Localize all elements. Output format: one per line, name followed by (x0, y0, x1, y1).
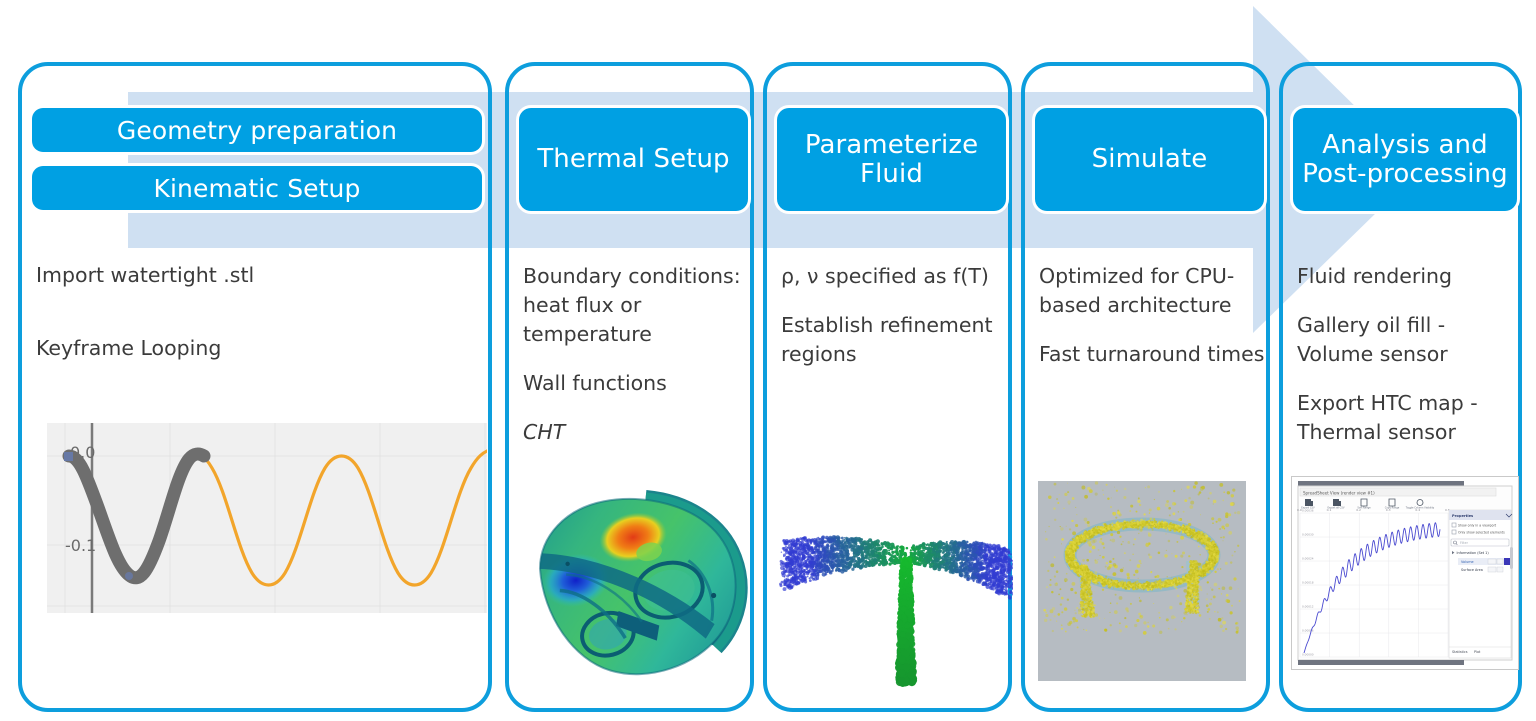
body-paragraph: Gallery oil fill - Volume sensor (1297, 311, 1519, 369)
figure-keyframe-looping-chart: 0.0 -0.1 (47, 423, 487, 613)
checkbox-label: Show only in a viewport (1458, 524, 1497, 528)
stage-chip-label: Thermal Setup (537, 145, 729, 173)
keyframe-looping-chart: 0.0 -0.1 (47, 423, 487, 613)
tab-statistics[interactable]: Statistics (1452, 650, 1468, 654)
tree-item-label[interactable]: Volume (1461, 560, 1474, 564)
ytick-label: 0.00036 (1302, 509, 1314, 513)
stage-chip-label: Parameterize Fluid (777, 131, 1006, 187)
toolbar-button-label: Toggle Column Visibility (1406, 507, 1435, 510)
stage-chip-analysis-and-post-processing[interactable]: Analysis and Post-processing (1293, 108, 1517, 211)
stage-panel-geometry-preparation[interactable]: Geometry preparation Kinematic Setup Imp… (18, 62, 492, 712)
body-paragraph: Keyframe Looping (36, 334, 476, 363)
stage-chip-parameterize-fluid[interactable]: Parameterize Fluid (777, 108, 1006, 211)
xtick-label: 0.4 (1415, 508, 1420, 512)
stage-chip-label: Simulate (1092, 145, 1208, 173)
stage-chip-kinematic-setup[interactable]: Kinematic Setup (32, 166, 482, 210)
stage-chip-label: Analysis and Post-processing (1293, 131, 1517, 187)
app-statusbar (1298, 660, 1464, 665)
figure-particle-spray-render (773, 461, 1013, 691)
app-window-title: SpreadSheet View (render view #1) (1303, 491, 1375, 496)
stage-chip-geometry-preparation[interactable]: Geometry preparation (32, 108, 482, 152)
stage-body-analysis-and-post-processing: Fluid rendering Gallery oil fill - Volum… (1297, 262, 1519, 468)
value-cell (1488, 567, 1496, 572)
keyframe-mid-handle[interactable] (125, 572, 133, 580)
ytick-label-1: -0.1 (65, 536, 96, 555)
body-paragraph: Boundary conditions: heat flux or temper… (523, 262, 747, 349)
ytick-label: 0.00030 (1302, 533, 1314, 537)
ytick-label: 0.00018 (1302, 581, 1314, 585)
ytick-label: 0.00024 (1302, 557, 1314, 561)
oil-gallery-ring-render (1038, 481, 1246, 681)
stage-panel-thermal-setup[interactable]: Thermal Setup Boundary conditions: heat … (505, 62, 754, 712)
color-swatch[interactable] (1504, 558, 1510, 565)
body-paragraph: Import watertight .stl (36, 261, 476, 290)
particle-spray-render (773, 461, 1013, 691)
workflow-diagram: Geometry preparation Kinematic Setup Imp… (0, 0, 1536, 721)
value-cell (1488, 559, 1496, 564)
piston-thermal-render (517, 486, 755, 686)
body-paragraph: Establish refinement regions (781, 311, 1009, 369)
keyframe-start-handle[interactable] (64, 452, 73, 461)
search-placeholder: Filter (1460, 541, 1469, 545)
paraview-plot-screenshot: SpreadSheet View (render view #1) Export… (1292, 477, 1518, 669)
stage-chip-thermal-setup[interactable]: Thermal Setup (519, 108, 748, 211)
value-cell (1497, 559, 1503, 564)
body-paragraph: Export HTC map - Thermal sensor (1297, 389, 1519, 447)
xtick-label: 0.2 (1356, 508, 1361, 512)
stage-chip-simulate[interactable]: Simulate (1035, 108, 1264, 211)
figure-paraview-plot-screenshot[interactable]: SpreadSheet View (render view #1) Export… (1291, 476, 1519, 670)
properties-panel-title: Properties (1452, 514, 1473, 518)
body-paragraph: Optimized for CPU-based architecture (1039, 262, 1265, 320)
tab-plot[interactable]: Plot (1474, 650, 1481, 654)
value-cell (1497, 567, 1503, 572)
stage-panel-parameterize-fluid[interactable]: Parameterize Fluid ρ, ν specified as f(T… (763, 62, 1012, 712)
stage-body-parameterize-fluid: ρ, ν specified as f(T) Establish refinem… (781, 262, 1009, 389)
stage-chip-label: Geometry preparation (117, 117, 397, 144)
body-paragraph: Fluid rendering (1297, 262, 1519, 291)
xtick-label: 0.3 (1386, 508, 1391, 512)
stage-panel-simulate[interactable]: Simulate Optimized for CPU-based archite… (1021, 62, 1270, 712)
ytick-label: 0.00000 (1302, 653, 1314, 657)
scrollbar[interactable] (1510, 547, 1513, 569)
stage-body-thermal-setup: Boundary conditions: heat flux or temper… (523, 262, 747, 468)
xtick-label: 0.1 (1327, 508, 1332, 512)
stage-body-simulate: Optimized for CPU-based architecture Fas… (1039, 262, 1265, 389)
body-paragraph: CHT (523, 418, 747, 447)
tree-item-label: Information (Set 1) (1457, 551, 1490, 555)
ytick-label: 0.00012 (1302, 605, 1314, 609)
app-titlebar (1298, 481, 1464, 486)
body-paragraph: Wall functions (523, 369, 747, 398)
stage-panel-analysis-and-post-processing[interactable]: Analysis and Post-processing Fluid rende… (1279, 62, 1522, 712)
stage-body-geometry-preparation: Import watertight .stl Keyframe Looping (36, 261, 476, 383)
tree-item-label[interactable]: Surface Area (1461, 568, 1483, 572)
stage-chip-label: Kinematic Setup (154, 175, 361, 202)
body-paragraph: Fast turnaround times (1039, 340, 1265, 369)
figure-piston-thermal-render (517, 486, 755, 686)
figure-oil-gallery-ring-render (1038, 481, 1246, 681)
checkbox-label: Only show selected elements (1458, 531, 1505, 535)
body-paragraph: ρ, ν specified as f(T) (781, 262, 1009, 291)
